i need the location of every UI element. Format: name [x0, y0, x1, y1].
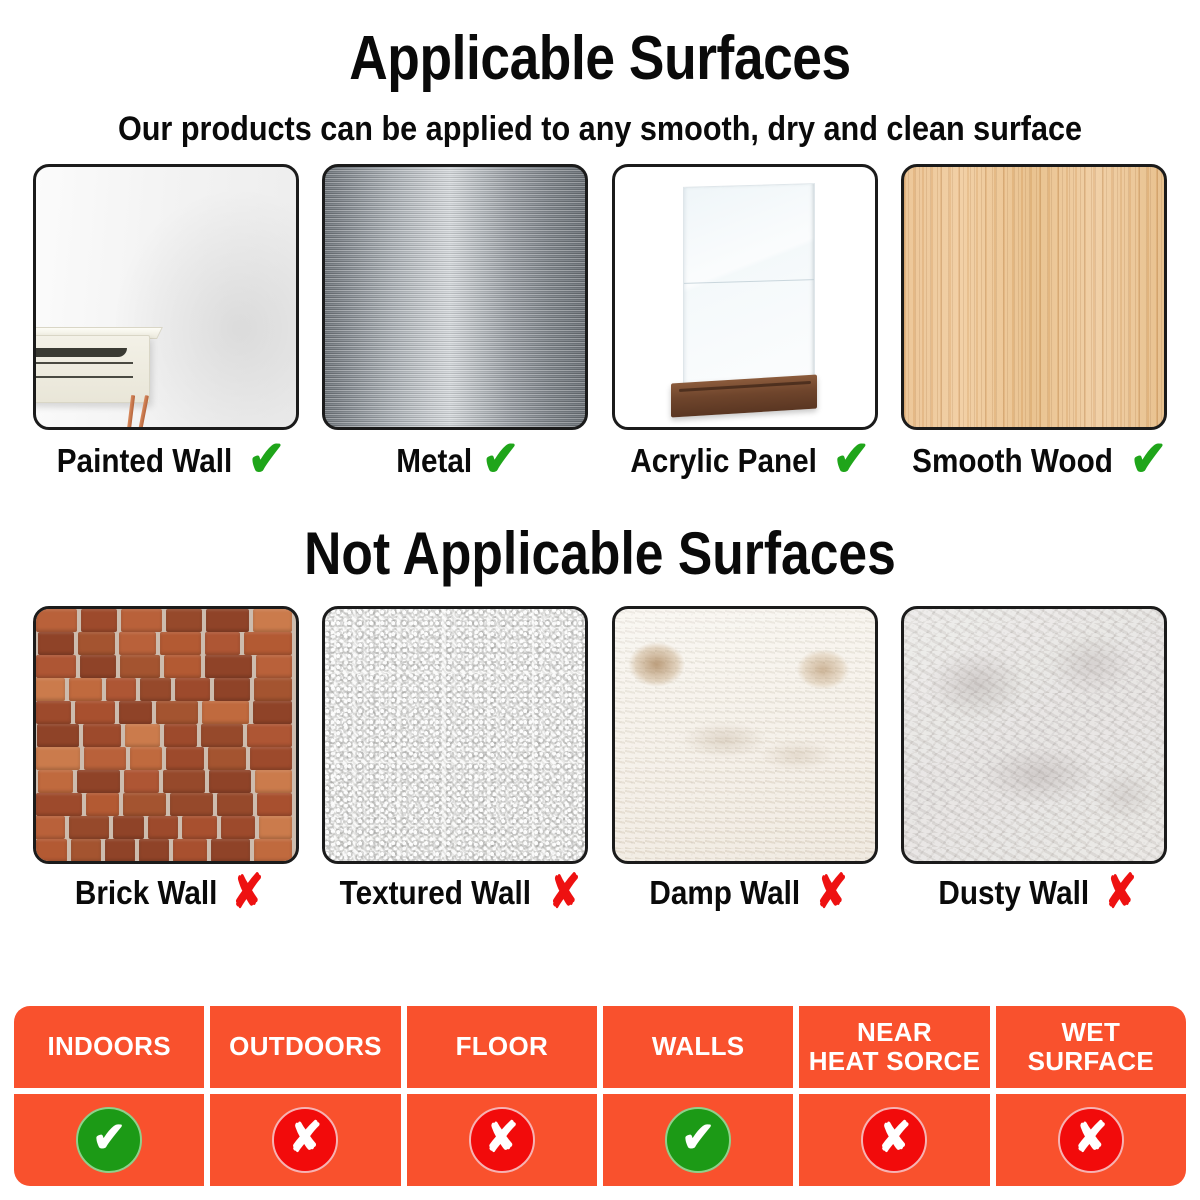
brick [256, 655, 292, 678]
surface-card-dusty-wall: Dusty Wall ✘ [900, 606, 1168, 912]
page-title: Applicable Surfaces [84, 0, 1116, 90]
page-subtitle: Our products can be applied to any smoot… [60, 90, 1140, 146]
brick [119, 632, 156, 655]
surface-label: Metal [396, 444, 472, 477]
surface-card-smooth-wood: Smooth Wood ✔ [900, 164, 1168, 482]
brick [36, 609, 77, 632]
usage-table-status-wet-surface: ✘ [996, 1094, 1186, 1186]
brick [36, 701, 71, 724]
brick [69, 816, 109, 839]
brick [38, 632, 74, 655]
usage-table-header-outdoors: OUTDOORS [210, 1006, 400, 1088]
brick [205, 655, 252, 678]
console-table-body [33, 335, 150, 403]
brick [217, 793, 253, 816]
brick [116, 862, 147, 864]
surface-label: Painted Wall [57, 444, 232, 477]
brick [208, 747, 246, 770]
brick [186, 862, 218, 864]
drawer-line [33, 362, 133, 364]
usage-table-header-label: WALLS [652, 1032, 745, 1061]
brick-row [36, 747, 296, 770]
usage-table-status-walls: ✔ [603, 1094, 793, 1186]
brick [160, 632, 201, 655]
brick [209, 770, 252, 793]
brick [250, 747, 292, 770]
brick-row [36, 816, 296, 839]
cross-icon: ✘ [232, 868, 264, 915]
check-badge-icon: ✔ [665, 1107, 731, 1173]
brick [106, 678, 136, 701]
cross-badge-icon: ✘ [272, 1107, 338, 1173]
brick-row [36, 632, 296, 655]
section-title-not-applicable: Not Applicable Surfaces [84, 524, 1116, 584]
brick [201, 724, 243, 747]
usage-table-status-near-heat-sorce: ✘ [799, 1094, 989, 1186]
brick [202, 701, 249, 724]
brick [33, 632, 34, 655]
badge-glyph: ✔ [92, 1117, 126, 1159]
cross-icon: ✘ [1105, 868, 1137, 915]
acrylic-panel-image [612, 164, 878, 430]
brick [83, 724, 121, 747]
brick-row [36, 770, 296, 793]
brick [206, 609, 249, 632]
usage-table-status-floor: ✘ [407, 1094, 597, 1186]
surface-card-textured-wall: Textured Wall ✘ [321, 606, 589, 912]
brick [125, 724, 159, 747]
usage-table-header-label: OUTDOORS [229, 1032, 382, 1061]
textured-wall-image [322, 606, 588, 864]
brick [211, 839, 250, 862]
brick [253, 609, 292, 632]
brick [164, 655, 201, 678]
usage-table-header-label: INDOORS [47, 1032, 170, 1061]
brick [254, 839, 292, 862]
brick [182, 816, 217, 839]
badge-glyph: ✘ [1074, 1117, 1108, 1159]
brick [175, 678, 209, 701]
brick [35, 678, 66, 701]
usage-table-header-near-heat-sorce: NEAR HEAT SORCE [799, 1006, 989, 1088]
surface-label: Brick Wall [75, 876, 218, 909]
surface-label: Textured Wall [340, 876, 531, 909]
brick [33, 770, 34, 793]
brick [113, 816, 144, 839]
surface-label: Acrylic Panel [630, 444, 817, 477]
brick [78, 632, 115, 655]
surface-card-acrylic-panel: Acrylic Panel ✔ [611, 164, 879, 482]
brick [79, 862, 112, 864]
brick [35, 816, 65, 839]
brick [173, 839, 207, 862]
acrylic-sheet [683, 183, 815, 405]
brick [244, 632, 292, 655]
check-badge-icon: ✔ [76, 1107, 142, 1173]
brick [151, 862, 182, 864]
brick [156, 701, 198, 724]
usage-table-header-floor: FLOOR [407, 1006, 597, 1088]
brick [119, 701, 152, 724]
brick [221, 816, 255, 839]
brick [166, 609, 202, 632]
badge-glyph: ✘ [485, 1117, 519, 1159]
drawer-line [33, 376, 133, 378]
brick [139, 839, 169, 862]
not-applicable-surfaces-row: Brick Wall ✘ Textured Wall ✘ Damp Wall ✘… [0, 606, 1200, 912]
brick [120, 655, 161, 678]
caption-brick-wall: Brick Wall ✘ [67, 872, 265, 912]
caption-metal: Metal ✔ [392, 438, 519, 482]
brick [205, 632, 240, 655]
brick-row [36, 701, 296, 724]
check-icon: ✔ [833, 435, 870, 484]
brick [37, 724, 80, 747]
brick [123, 793, 166, 816]
brick [38, 770, 73, 793]
brick [253, 701, 292, 724]
brick [75, 701, 114, 724]
brick [164, 724, 198, 747]
surface-card-painted-wall: Painted Wall ✔ [32, 164, 300, 482]
brick [247, 724, 292, 747]
surface-label: Dusty Wall [939, 876, 1090, 909]
brick [254, 678, 292, 701]
applicable-surfaces-row: Painted Wall ✔ Metal ✔ Acrylic Panel ✔ S… [0, 164, 1200, 482]
caption-smooth-wood: Smooth Wood ✔ [901, 438, 1167, 482]
caption-damp-wall: Damp Wall ✘ [641, 872, 848, 912]
cross-icon: ✘ [549, 868, 581, 915]
caption-dusty-wall: Dusty Wall ✘ [930, 872, 1137, 912]
brick [148, 816, 178, 839]
brick [36, 655, 76, 678]
cross-badge-icon: ✘ [469, 1107, 535, 1173]
brick [77, 770, 120, 793]
surface-label: Smooth Wood [912, 444, 1113, 477]
brick [257, 793, 292, 816]
surface-card-damp-wall: Damp Wall ✘ [611, 606, 879, 912]
usage-table-header-label: FLOOR [456, 1032, 549, 1061]
brick [121, 609, 162, 632]
caption-painted-wall: Painted Wall ✔ [47, 438, 285, 482]
brick [140, 678, 171, 701]
cross-badge-icon: ✘ [1058, 1107, 1124, 1173]
brick-row [36, 609, 296, 632]
brick [105, 839, 135, 862]
check-icon: ✔ [248, 435, 285, 484]
badge-glyph: ✔ [681, 1117, 715, 1159]
brick-row [36, 655, 296, 678]
usage-table-header-wet-surface: WET SURFACE [996, 1006, 1186, 1088]
brick [214, 678, 250, 701]
usage-table-header-label: WET SURFACE [1028, 1018, 1154, 1076]
brick-row [36, 839, 296, 862]
check-icon: ✔ [482, 435, 519, 484]
brick-row [36, 793, 296, 816]
brick [36, 747, 80, 770]
brick [163, 770, 204, 793]
brick [166, 747, 203, 770]
brushed-metal-image [322, 164, 588, 430]
usage-table-header-label: NEAR HEAT SORCE [809, 1018, 981, 1076]
usage-table-header-walls: WALLS [603, 1006, 793, 1088]
dusty-wall-image [901, 606, 1167, 864]
brick [259, 816, 292, 839]
brick [222, 862, 252, 864]
check-icon: ✔ [1130, 435, 1167, 484]
smooth-wood-image [901, 164, 1167, 430]
brick-row [36, 862, 296, 864]
brick [256, 862, 292, 864]
brick [86, 793, 119, 816]
surface-card-brick-wall: Brick Wall ✘ [32, 606, 300, 912]
brick [71, 839, 100, 862]
brick [84, 747, 126, 770]
caption-textured-wall: Textured Wall ✘ [329, 872, 581, 912]
cross-icon: ✘ [815, 868, 847, 915]
caption-acrylic-panel: Acrylic Panel ✔ [620, 438, 870, 482]
brick [124, 770, 160, 793]
painted-wall-image [33, 164, 299, 430]
usage-table-status-outdoors: ✘ [210, 1094, 400, 1186]
damp-wall-image [612, 606, 878, 864]
surface-label: Damp Wall [650, 876, 801, 909]
brick [69, 678, 102, 701]
brick-row [36, 678, 296, 701]
brick [36, 839, 67, 862]
brick [36, 862, 75, 864]
brick [80, 655, 116, 678]
usage-table-status-indoors: ✔ [14, 1094, 204, 1186]
brick-wall-image [33, 606, 299, 864]
badge-glyph: ✘ [289, 1117, 323, 1159]
cross-badge-icon: ✘ [861, 1107, 927, 1173]
brick [81, 609, 117, 632]
badge-glyph: ✘ [878, 1117, 912, 1159]
brick [170, 793, 212, 816]
surface-card-metal: Metal ✔ [321, 164, 589, 482]
brick [36, 793, 82, 816]
brick-row [36, 724, 296, 747]
usage-table-header-indoors: INDOORS [14, 1006, 204, 1088]
brick [255, 770, 292, 793]
brick [130, 747, 163, 770]
usage-table: INDOORSOUTDOORSFLOORWALLSNEAR HEAT SORCE… [14, 1006, 1186, 1186]
